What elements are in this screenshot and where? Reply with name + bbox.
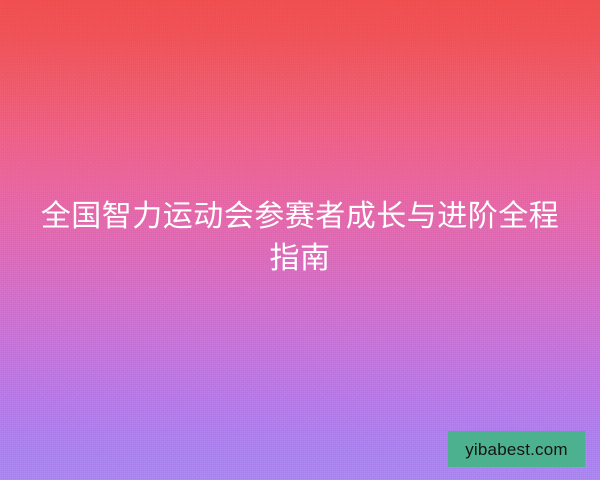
poster-canvas: 全国智力运动会参赛者成长与进阶全程指南 yibabest.com — [0, 0, 600, 480]
watermark-label: yibabest.com — [465, 441, 568, 458]
watermark-badge: yibabest.com — [448, 431, 585, 467]
poster-title: 全国智力运动会参赛者成长与进阶全程指南 — [0, 196, 600, 280]
